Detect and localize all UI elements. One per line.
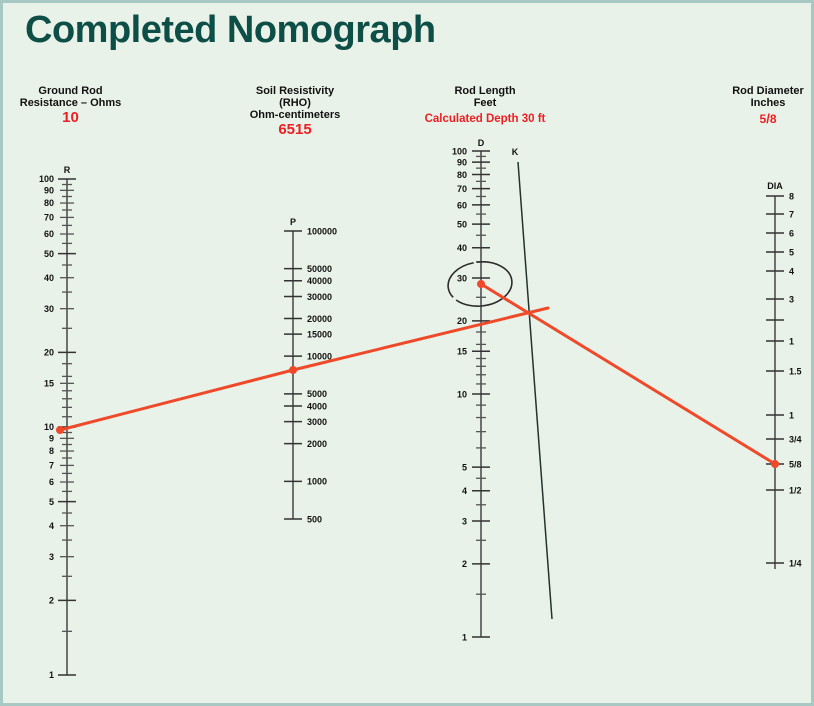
axis-d-tick-label: 1 — [462, 632, 467, 642]
axis-d: D 1009080706050403020151054321 — [452, 138, 490, 642]
axis-r: R 10090807060504030201510987654321 — [39, 165, 76, 680]
axis-r-tick-label: 15 — [44, 379, 54, 389]
axis-p-ticks: 1000005000040000300002000015000100005000… — [284, 226, 337, 524]
axis-p-tick-label: 3000 — [307, 417, 327, 427]
marker-dia-5-8 — [771, 460, 779, 468]
axis-d-tick-label: 2 — [462, 559, 467, 569]
axis-r-tick-label: 20 — [44, 348, 54, 358]
axis-p-tick-label: 2000 — [307, 439, 327, 449]
nomograph-page: Completed Nomograph Ground Rod Resistanc… — [0, 0, 814, 706]
axis-p-tick-label: 40000 — [307, 276, 332, 286]
axis-r-tick-label: 90 — [44, 186, 54, 196]
axis-p-tick-label: 15000 — [307, 330, 332, 340]
axis-r-tick-label: 9 — [49, 434, 54, 444]
axis-k: K — [512, 147, 552, 619]
axis-p-tick-label: 100000 — [307, 226, 337, 236]
axis-dia-tick-label: 1/4 — [789, 558, 802, 568]
axis-dia-ticks: 87654311.513/45/81/21/4 — [766, 191, 802, 568]
axis-p-tick-label: 4000 — [307, 401, 327, 411]
axis-dia-tick-label: 5 — [789, 247, 794, 257]
axis-dia-tick-label: 6 — [789, 228, 794, 238]
axis-d-tick-label: 3 — [462, 516, 467, 526]
axis-r-tick-label: 40 — [44, 273, 54, 283]
axis-d-tick-label: 5 — [462, 463, 467, 473]
axis-d-tick-label: 70 — [457, 184, 467, 194]
axis-d-tick-label: 100 — [452, 146, 467, 156]
axis-p-tick-label: 50000 — [307, 264, 332, 274]
axis-r-tick-label: 1 — [49, 670, 54, 680]
axis-dia: DIA 87654311.513/45/81/21/4 — [766, 181, 802, 569]
axis-d-tick-label: 60 — [457, 200, 467, 210]
axis-r-tick-label: 70 — [44, 213, 54, 223]
marker-r-10 — [56, 426, 64, 434]
axis-p-label: P — [290, 217, 296, 227]
axis-p-tick-label: 1000 — [307, 477, 327, 487]
axis-r-tick-label: 3 — [49, 552, 54, 562]
axis-dia-label: DIA — [767, 181, 783, 191]
axis-r-tick-label: 6 — [49, 477, 54, 487]
axis-d-tick-label: 30 — [457, 273, 467, 283]
axis-d-tick-label: 40 — [457, 243, 467, 253]
axis-dia-tick-label: 5/8 — [789, 459, 802, 469]
axis-d-tick-label: 20 — [457, 316, 467, 326]
axis-r-tick-label: 80 — [44, 198, 54, 208]
axis-dia-tick-label: 7 — [789, 209, 794, 219]
construction-line-k-to-dia — [481, 284, 775, 464]
axis-d-label: D — [478, 138, 485, 148]
construction-line-r-to-k — [60, 308, 548, 430]
axis-d-tick-label: 50 — [457, 220, 467, 230]
axis-k-label: K — [512, 147, 519, 157]
axis-dia-tick-label: 4 — [789, 266, 794, 276]
axis-dia-tick-label: 3/4 — [789, 434, 802, 444]
nomograph-diagram: R 10090807060504030201510987654321 P 100… — [3, 3, 814, 706]
axis-dia-tick-label: 1/2 — [789, 485, 802, 495]
axis-r-tick-label: 2 — [49, 596, 54, 606]
axis-r-tick-label: 8 — [49, 446, 54, 456]
axis-r-tick-label: 10 — [44, 422, 54, 432]
axis-r-tick-label: 100 — [39, 174, 54, 184]
axis-dia-tick-label: 1.5 — [789, 366, 802, 376]
axis-d-tick-label: 80 — [457, 170, 467, 180]
axis-dia-tick-label: 3 — [789, 294, 794, 304]
axis-p-tick-label: 5000 — [307, 389, 327, 399]
axis-p-tick-label: 20000 — [307, 314, 332, 324]
axis-dia-tick-label: 1 — [789, 410, 794, 420]
axis-k-line — [518, 162, 552, 619]
axis-r-label: R — [64, 165, 71, 175]
axis-p-tick-label: 30000 — [307, 292, 332, 302]
axis-r-tick-label: 4 — [49, 521, 54, 531]
axis-d-tick-label: 90 — [457, 158, 467, 168]
axis-dia-tick-label: 8 — [789, 191, 794, 201]
axis-r-tick-label: 5 — [49, 497, 54, 507]
marker-p-6515 — [289, 366, 297, 374]
axis-r-tick-label: 7 — [49, 461, 54, 471]
axis-d-tick-label: 15 — [457, 347, 467, 357]
marker-d-30 — [477, 280, 485, 288]
axis-r-tick-label: 50 — [44, 249, 54, 259]
axis-d-tick-label: 4 — [462, 486, 467, 496]
axis-d-tick-label: 10 — [457, 389, 467, 399]
axis-r-tick-label: 60 — [44, 229, 54, 239]
axis-dia-tick-label: 1 — [789, 336, 794, 346]
axis-d-ticks: 1009080706050403020151054321 — [452, 146, 490, 642]
axis-p-tick-label: 500 — [307, 514, 322, 524]
axis-r-tick-label: 30 — [44, 304, 54, 314]
